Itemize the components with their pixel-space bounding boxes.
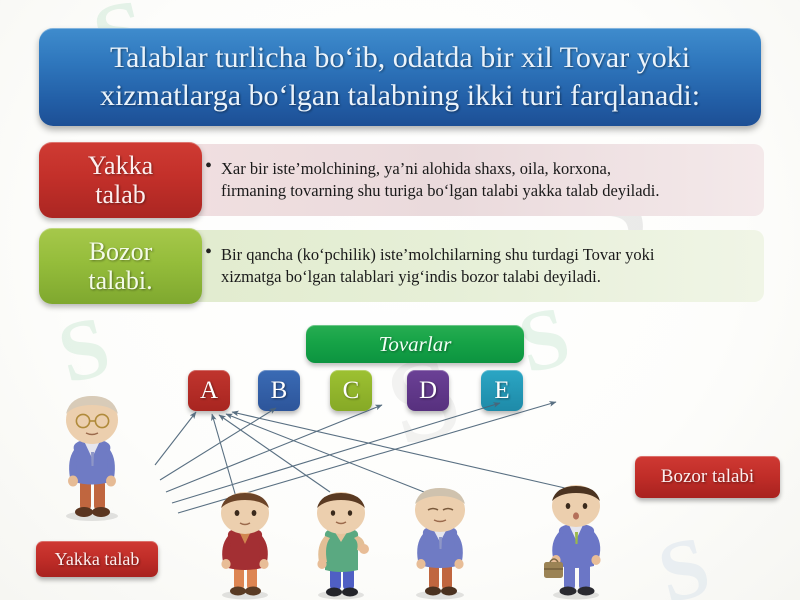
row-yakka-text: Xar bir iste’molchining, ya’ni alohida s… — [221, 158, 660, 202]
figure-businessman-briefcase — [533, 484, 619, 600]
tag-bozor-label: Bozor talabi. — [88, 237, 152, 295]
tag-yakka-talab[interactable]: Yakka talab — [39, 142, 202, 218]
goods-box-a[interactable]: A — [188, 370, 230, 411]
row-bozor-text-line-1: Bir qancha (ko‘pchilik) iste’molchilarni… — [221, 245, 654, 264]
goods-box-label: A — [200, 377, 218, 405]
row-yakka-text-line-2: firmaning tovarning shu turiga bo‘lgan t… — [221, 181, 660, 200]
goods-box-label: D — [419, 377, 437, 405]
page-title: Talablar turlicha bo‘ib, odatda bir xil … — [72, 39, 728, 116]
bullet-icon: • — [205, 156, 212, 176]
badge-yakka-talab[interactable]: Yakka talab — [36, 541, 158, 577]
row-bozor-talabi: • Bir qancha (ko‘pchilik) iste’molchilar… — [39, 228, 764, 304]
goods-box-label: C — [343, 377, 360, 405]
tag-bozor-line-1: Bozor — [89, 237, 153, 266]
goods-box-e[interactable]: E — [481, 370, 523, 411]
goods-box-c[interactable]: C — [330, 370, 372, 411]
tag-bozor-talabi[interactable]: Bozor talabi. — [39, 228, 202, 304]
title-banner: Talablar turlicha bo‘ib, odatda bir xil … — [39, 28, 761, 126]
tag-yakka-label: Yakka talab — [88, 151, 153, 209]
watermark-green-4: S — [649, 516, 714, 600]
goods-box-label: B — [271, 377, 288, 405]
figure-elderly-man-glasses — [44, 392, 140, 522]
figure-elderly-man-vest — [395, 486, 485, 600]
goods-banner[interactable]: Tovarlar — [306, 325, 524, 363]
goods-box-b[interactable]: B — [258, 370, 300, 411]
row-bozor-text-line-2: xizmatga bo‘lgan talablari yig‘indis boz… — [221, 267, 601, 286]
watermark-green-2: S — [49, 296, 114, 403]
row-yakka-body: • Xar bir iste’molchining, ya’ni alohida… — [187, 144, 764, 216]
row-yakka-talab: • Xar bir iste’molchining, ya’ni alohida… — [39, 142, 764, 218]
figure-man-red-shirt — [202, 492, 288, 600]
figure-boy-green-overalls — [298, 492, 384, 600]
tag-bozor-line-2: talabi. — [88, 266, 152, 295]
tag-yakka-line-2: talab — [95, 180, 146, 209]
title-line-2: xizmatlarga bo‘lgan talabning ikki turi … — [100, 79, 700, 112]
row-bozor-text: Bir qancha (ko‘pchilik) iste’molchilarni… — [221, 244, 654, 288]
goods-banner-label: Tovarlar — [379, 332, 452, 357]
goods-box-d[interactable]: D — [407, 370, 449, 411]
goods-box-label: E — [494, 377, 509, 405]
slide-canvas: S S S S S S Talablar turlicha bo‘ib, oda… — [0, 0, 800, 600]
badge-yakka-label: Yakka talab — [55, 549, 140, 570]
badge-bozor-label: Bozor talabi — [661, 466, 754, 488]
row-bozor-body: • Bir qancha (ko‘pchilik) iste’molchilar… — [187, 230, 764, 302]
title-line-1: Talablar turlicha bo‘ib, odatda bir xil … — [110, 41, 690, 74]
badge-bozor-talabi[interactable]: Bozor talabi — [635, 456, 780, 498]
bullet-icon: • — [205, 242, 212, 262]
row-yakka-text-line-1: Xar bir iste’molchining, ya’ni alohida s… — [221, 159, 611, 178]
tag-yakka-line-1: Yakka — [88, 151, 153, 180]
